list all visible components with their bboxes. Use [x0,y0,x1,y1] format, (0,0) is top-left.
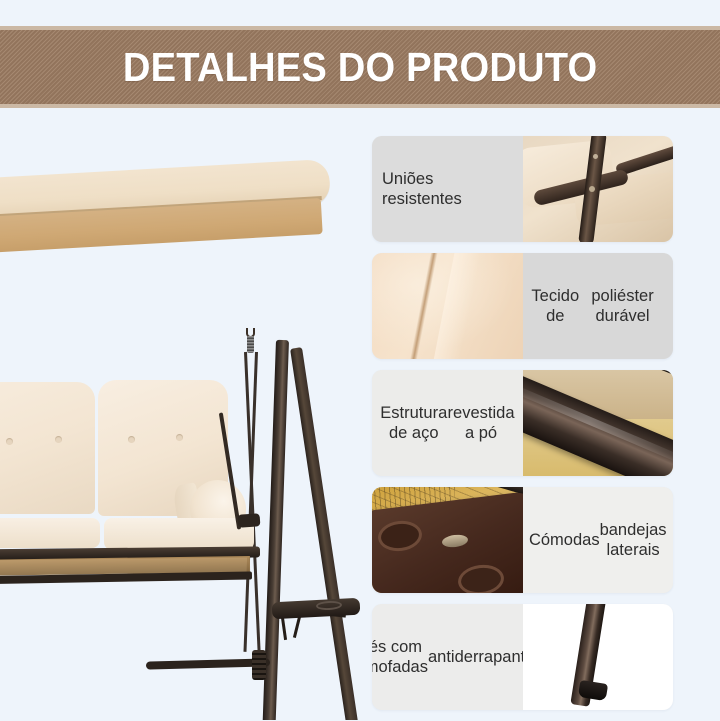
steel-tube-detail-photo [523,370,674,476]
feature-label: Pés com almofadas antiderrapantes [372,604,523,710]
feature-label-text: poliéster durável [580,286,665,326]
frame-leg-rear [290,347,360,720]
fabric-detail-photo [372,253,523,359]
feature-label: Estrutura de aço revestida a pó [372,370,523,476]
hanging-spring [247,336,254,353]
non-slip-foot-detail-photo [523,604,674,710]
bolt-icon [589,186,595,192]
side-tray [272,598,360,620]
feature-label: Cómodas bandejas laterais [523,487,674,593]
back-cushion-left [0,382,95,514]
feature-card-unioes-resistentes[interactable]: Uniões resistentes [372,136,673,242]
feature-card-bandejas-laterais[interactable]: Cómodas bandejas laterais [372,487,673,593]
feature-card-pes-antiderrapantes[interactable]: Pés com almofadas antiderrapantes [372,604,673,710]
bolt-icon [593,154,598,159]
feature-label-text: Tecido de [531,286,581,326]
feature-card-tecido-poliester[interactable]: Tecido de poliéster durável [372,253,673,359]
feature-label: Tecido de poliéster durável [523,253,674,359]
feature-card-estrutura-aco[interactable]: Estrutura de aço revestida a pó [372,370,673,476]
hero-product-image [0,112,360,720]
side-tray-detail-photo [372,487,523,593]
cushion-tuft [176,434,183,441]
armrest-cap [238,513,261,528]
joint-detail-photo [523,136,674,242]
feature-label-text: Pés com almofadas [372,637,428,677]
feature-label-text: bandejas laterais [600,520,667,560]
feature-card-list: Uniões resistentes Tecido de poliéster d… [372,136,673,721]
feature-label: Uniões resistentes [372,136,523,242]
seat-cushion-left [0,518,100,548]
feature-label-text: revestida a pó [448,403,515,443]
bottom-bar-joint [252,650,266,680]
cushion-tuft [55,436,62,443]
header-banner: DETALHES DO PRODUTO [0,26,720,108]
cushion-tuft [6,438,13,445]
cushion-tuft [128,436,135,443]
seat-cushion-right [104,518,254,550]
page-title: DETALHES DO PRODUTO [123,47,598,88]
feature-label-text: Cómodas [529,530,600,550]
product-detail-page: DETALHES DO PRODUTO [0,0,720,720]
feature-label-text: Estrutura de aço [380,403,448,443]
